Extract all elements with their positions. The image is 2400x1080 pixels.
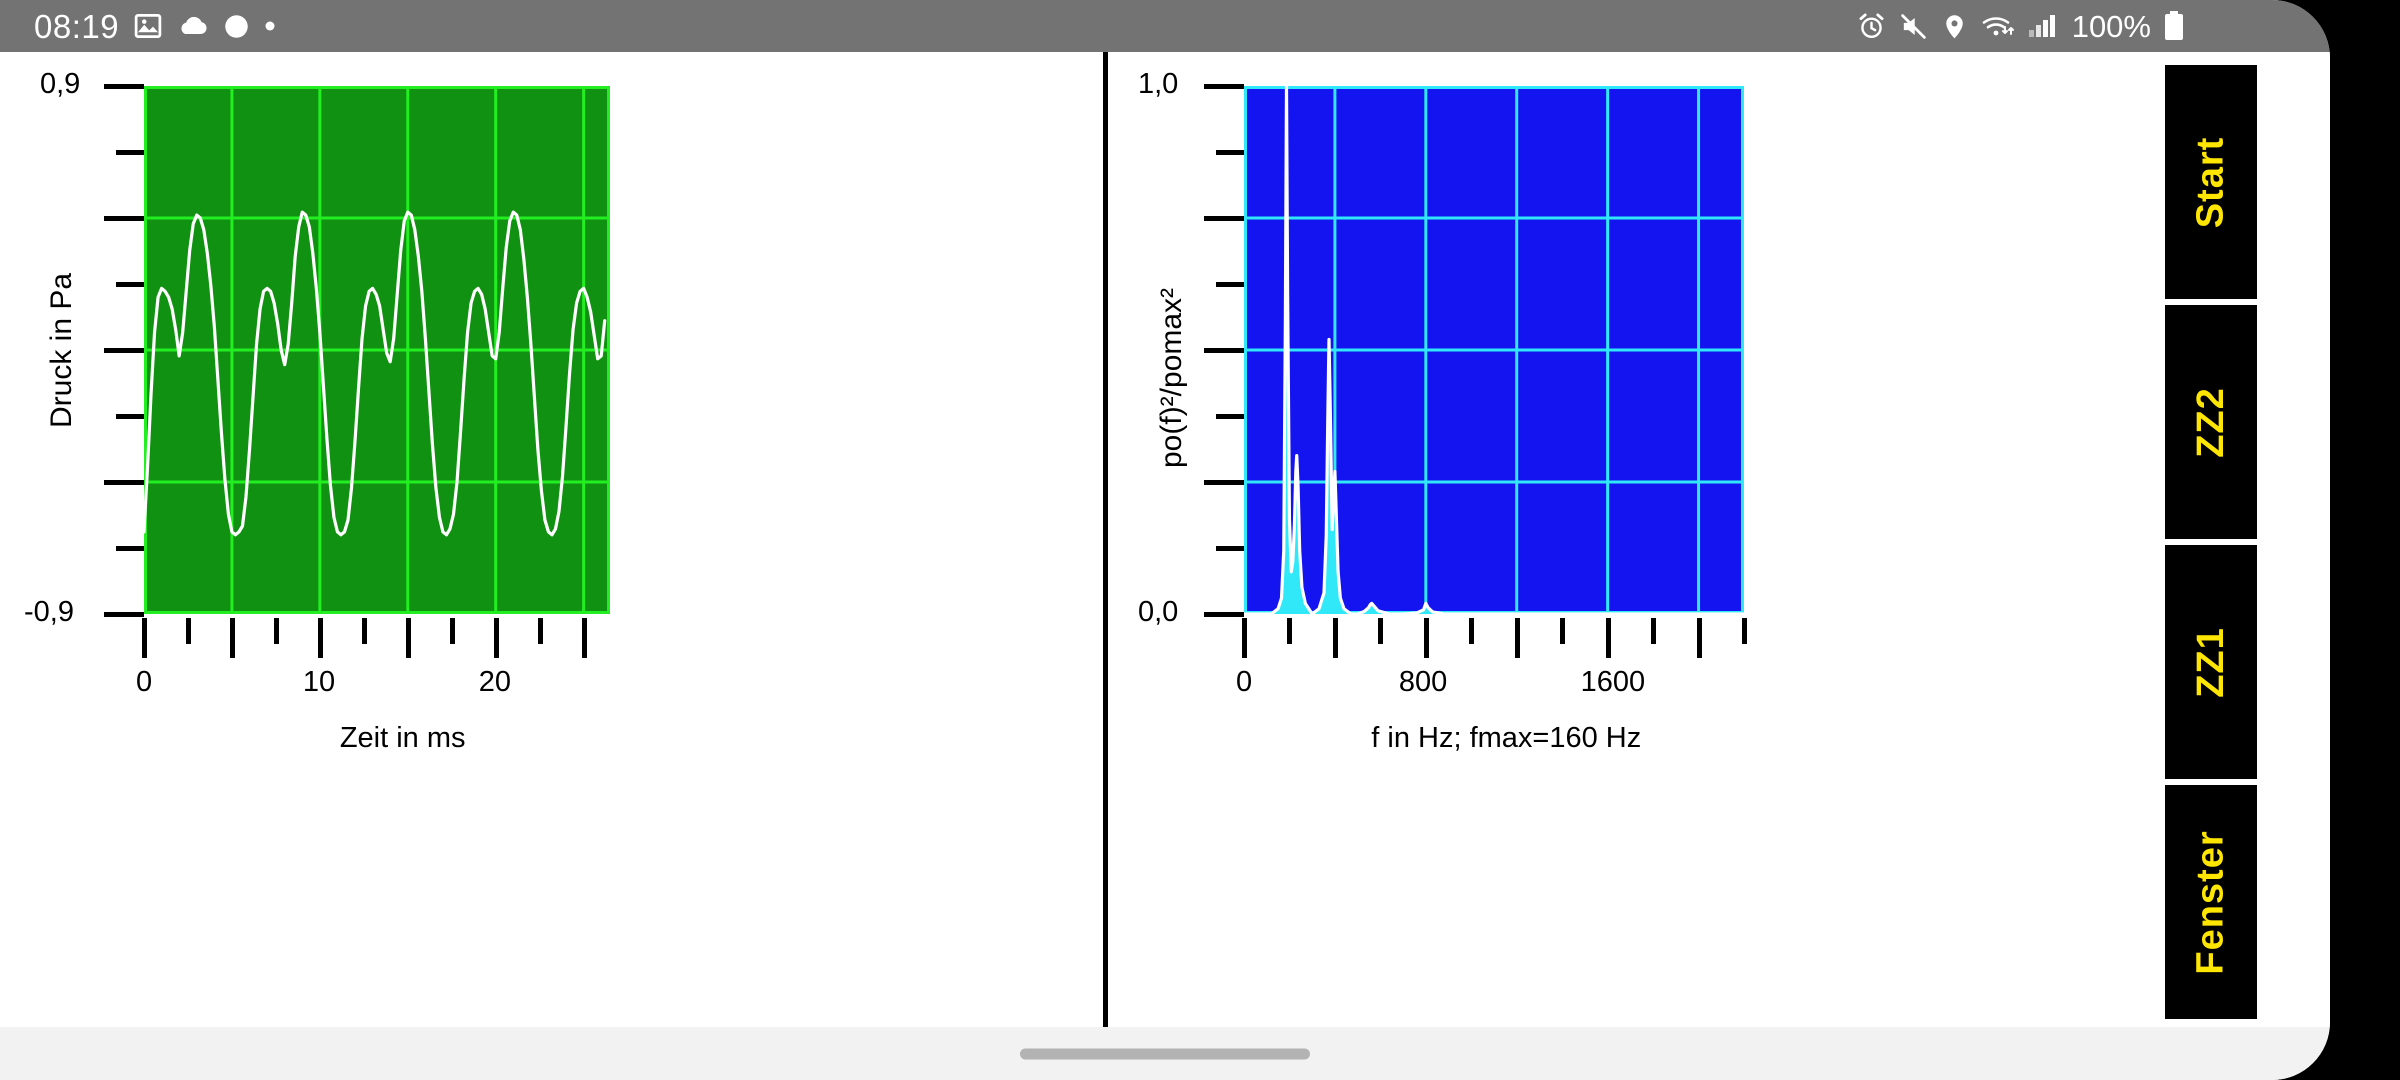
axis-tick	[362, 618, 367, 644]
axis-tick	[230, 618, 235, 658]
oscilloscope-panel[interactable]: 0,9 -0,9 0 10 20 Zeit in ms Druck in Pa	[0, 52, 1103, 1027]
signal-icon	[2028, 13, 2056, 39]
axis-tick	[1204, 612, 1244, 617]
fenster-button[interactable]: Fenster	[2162, 782, 2260, 1022]
spectrum-xtick-800: 800	[1399, 666, 1447, 699]
axis-tick	[1424, 618, 1429, 658]
oscilloscope-xaxis-label: Zeit in ms	[340, 722, 466, 755]
start-button-label: Start	[2189, 136, 2232, 228]
oscilloscope-ytick-min: -0,9	[24, 596, 74, 629]
axis-tick	[104, 84, 144, 89]
axis-tick	[116, 414, 144, 419]
axis-tick	[186, 618, 191, 644]
axis-tick	[1287, 618, 1292, 644]
spectrum-ytick-max: 1,0	[1138, 68, 1178, 101]
oscilloscope-xtick-10: 10	[303, 666, 335, 699]
axis-tick	[104, 216, 144, 221]
battery-percent-label: 100%	[2072, 11, 2151, 42]
axis-tick	[1204, 216, 1244, 221]
zz2-button-label: ZZ2	[2190, 387, 2233, 458]
axis-tick	[406, 618, 411, 658]
axis-tick	[1242, 618, 1247, 658]
axis-tick	[104, 612, 144, 617]
axis-tick	[1651, 618, 1656, 644]
zz1-button-label: ZZ1	[2190, 627, 2233, 698]
status-bar: 08:19	[0, 0, 2330, 52]
dot-icon	[264, 20, 276, 32]
axis-tick	[318, 618, 323, 658]
axis-tick	[1606, 618, 1611, 658]
status-left-group: 08:19	[34, 10, 276, 43]
axis-tick	[116, 282, 144, 287]
spectrum-ytick-min: 0,0	[1138, 596, 1178, 629]
navigation-bar	[0, 1027, 2330, 1080]
image-icon	[133, 11, 163, 41]
axis-tick	[1515, 618, 1520, 658]
cloud-icon	[177, 13, 209, 39]
oscilloscope-yaxis-label: Druck in Pa	[45, 273, 79, 428]
spectrum-panel[interactable]: 1,0 0,0 0 800 1600 f in Hz; fmax=160 Hz …	[1110, 52, 2210, 1027]
alarm-icon	[1857, 12, 1886, 41]
spectrum-xaxis-label: f in Hz; fmax=160 Hz	[1371, 722, 1641, 755]
axis-tick	[1378, 618, 1383, 644]
axis-tick	[450, 618, 455, 644]
status-clock: 08:19	[34, 10, 119, 43]
axis-tick	[494, 618, 499, 658]
start-button[interactable]: Start	[2162, 62, 2260, 302]
control-sidebar: StartZZ2ZZ1Fenster	[2162, 62, 2260, 1022]
axis-tick	[116, 150, 144, 155]
zz1-button[interactable]: ZZ1	[2162, 542, 2260, 782]
axis-tick	[582, 618, 587, 658]
spectrum-yaxis-label: po(f)²/pomax²	[1155, 288, 1189, 468]
axis-tick	[1333, 618, 1338, 658]
axis-tick	[1697, 618, 1702, 658]
spectrum-xtick-0: 0	[1236, 666, 1252, 699]
axis-tick	[1742, 618, 1747, 644]
oscilloscope-plot-area[interactable]	[144, 86, 610, 614]
axis-tick	[1216, 414, 1244, 419]
axis-tick	[116, 546, 144, 551]
fenster-button-label: Fenster	[2190, 830, 2233, 974]
zz2-button[interactable]: ZZ2	[2162, 302, 2260, 542]
axis-tick	[1216, 282, 1244, 287]
spectrum-xtick-1600: 1600	[1581, 666, 1646, 699]
axis-tick	[142, 618, 147, 658]
oscilloscope-xtick-0: 0	[136, 666, 152, 699]
axis-tick	[1204, 84, 1244, 89]
oscilloscope-ytick-max: 0,9	[40, 68, 80, 101]
axis-tick	[104, 348, 144, 353]
axis-tick	[1204, 480, 1244, 485]
axis-tick	[274, 618, 279, 644]
mute-icon	[1899, 12, 1928, 41]
battery-icon	[2164, 11, 2184, 41]
oscilloscope-xtick-20: 20	[479, 666, 511, 699]
status-right-group: 100%	[1857, 11, 2304, 42]
app-root: 08:19	[0, 0, 2400, 1080]
axis-tick	[1216, 150, 1244, 155]
circle-icon	[223, 13, 250, 40]
axis-tick	[1469, 618, 1474, 644]
spectrum-plot-area[interactable]	[1244, 86, 1744, 614]
axis-tick	[1216, 546, 1244, 551]
axis-tick	[104, 480, 144, 485]
location-icon	[1941, 13, 1968, 40]
home-gesture-pill[interactable]	[1020, 1048, 1310, 1059]
axis-tick	[538, 618, 543, 644]
axis-tick	[1560, 618, 1565, 644]
wifi-icon	[1981, 12, 2015, 40]
panel-divider	[1103, 52, 1108, 1027]
phone-screen: 08:19	[0, 0, 2330, 1080]
plots-container: 0,9 -0,9 0 10 20 Zeit in ms Druck in Pa …	[0, 52, 2330, 1027]
axis-tick	[1204, 348, 1244, 353]
